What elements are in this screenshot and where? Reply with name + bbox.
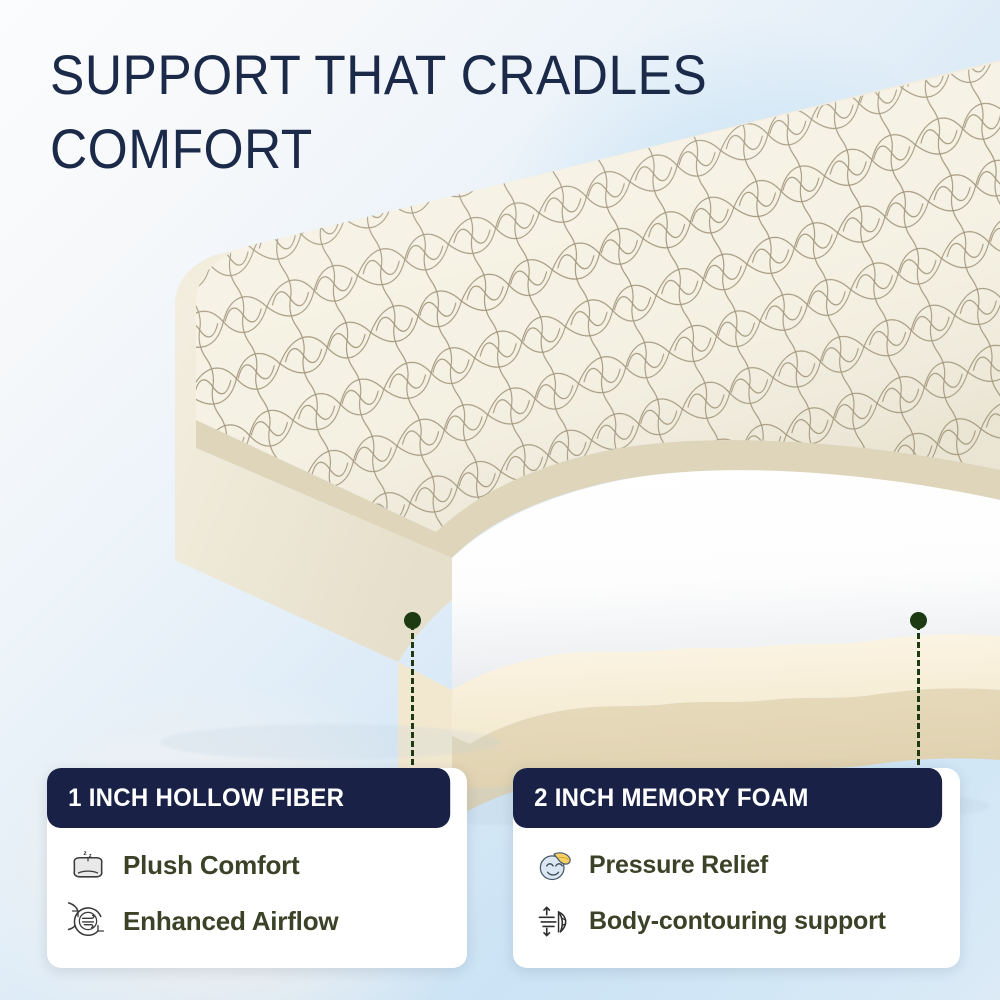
leader-line-memory-foam [917,624,923,774]
feature-label-body-contouring: Body-contouring support [589,907,886,936]
leader-line-hollow-fiber [411,624,417,774]
svg-text:z: z [89,853,92,859]
body-contour-compression-icon [533,900,575,942]
card-header-hollow-fiber: 1 INCH HOLLOW FIBER [47,768,450,828]
svg-text:z: z [83,850,86,857]
card-body-hollow-fiber: z z Plush Comfort [47,828,467,968]
airflow-circulation-icon [67,900,109,942]
feature-label-enhanced-airflow: Enhanced Airflow [123,906,338,937]
sleeping-face-pressure-icon [533,844,575,886]
pillow-sleep-icon: z z [67,844,109,886]
feature-enhanced-airflow[interactable]: Enhanced Airflow [67,900,449,942]
card-body-memory-foam: Pressure Relief Body- [513,828,960,968]
feature-label-pressure-relief: Pressure Relief [589,851,768,880]
card-header-memory-foam: 2 INCH MEMORY FOAM [513,768,942,828]
page-title: SUPPORT THAT CRADLES COMFORT [50,38,814,187]
infographic-canvas: SUPPORT THAT CRADLES COMFORT [0,0,1000,1000]
feature-label-plush-comfort: Plush Comfort [123,850,300,881]
feature-card-memory-foam[interactable]: 2 INCH MEMORY FOAM Pressure Relief [513,768,960,968]
feature-pressure-relief[interactable]: Pressure Relief [533,844,942,886]
feature-card-hollow-fiber[interactable]: 1 INCH HOLLOW FIBER z z Plush Comfort [47,768,467,968]
feature-body-contouring[interactable]: Body-contouring support [533,900,942,942]
feature-plush-comfort[interactable]: z z Plush Comfort [67,844,449,886]
